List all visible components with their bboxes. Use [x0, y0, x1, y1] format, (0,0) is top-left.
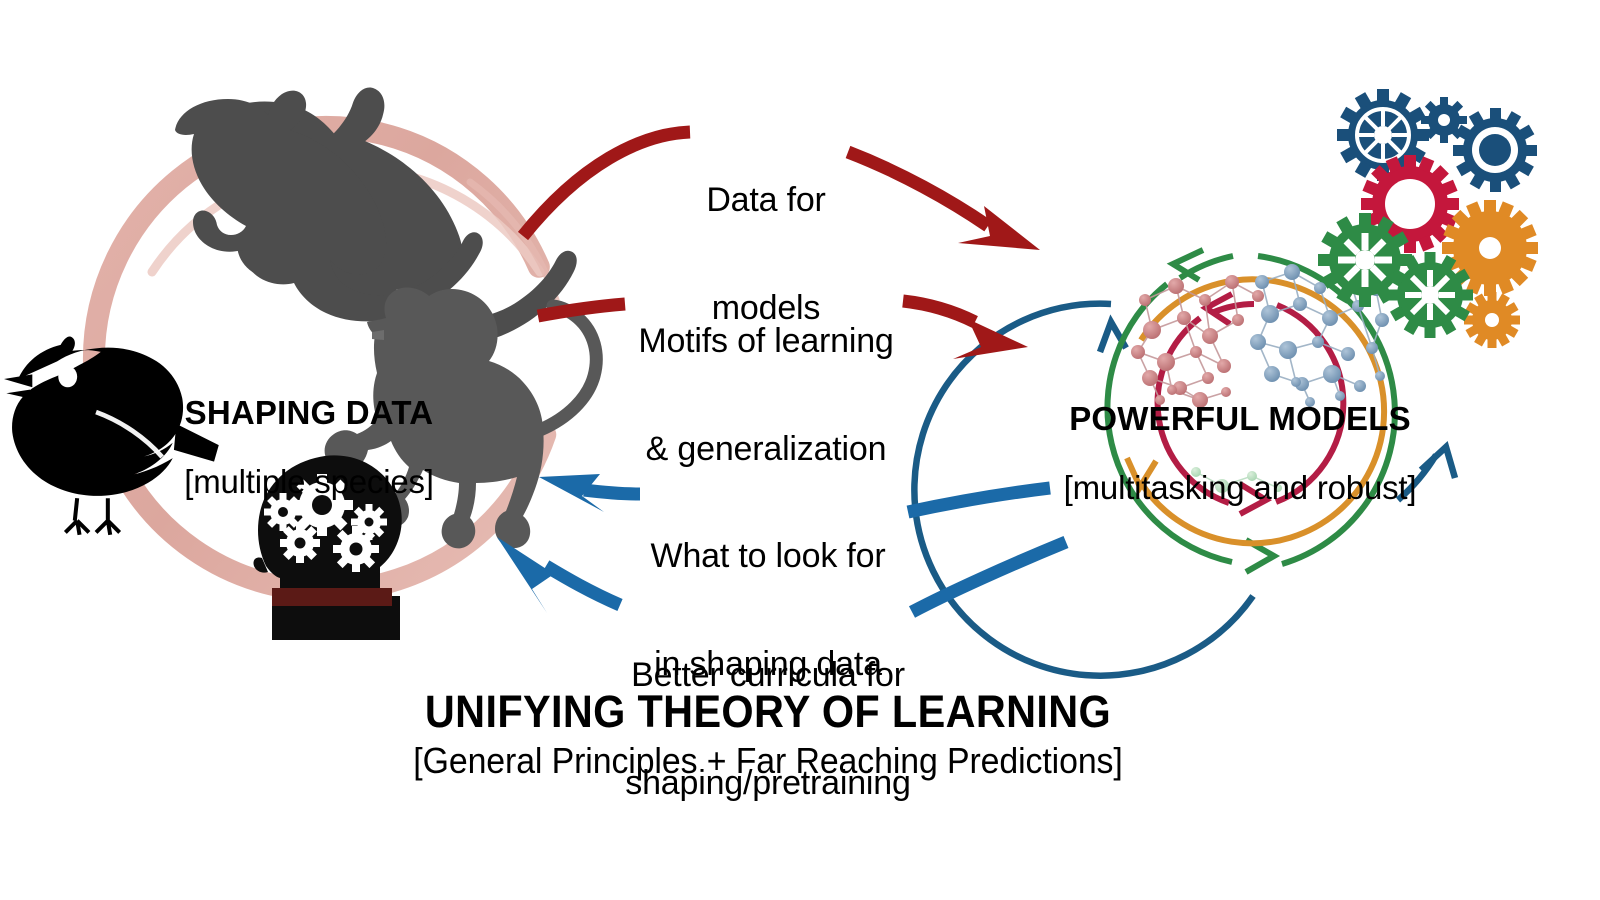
right-node-title: POWERFUL MODELS — [1064, 402, 1417, 437]
left-node-label: SHAPING DATA [multiple species] — [184, 362, 434, 534]
arrow-label-line: Motifs of learning — [638, 323, 893, 359]
arrow-label-line: What to look for — [651, 538, 886, 574]
left-node-subtitle: [multiple species] — [184, 465, 434, 500]
diagram-canvas: Data for models Motifs of learning & gen… — [0, 0, 1600, 900]
page-subtitle: [General Principles + Far Reaching Predi… — [413, 742, 1122, 780]
right-node-label: POWERFUL MODELS [multitasking and robust… — [1064, 368, 1417, 540]
page-title: UNIFYING THEORY OF LEARNING — [425, 688, 1111, 736]
left-node-title: SHAPING DATA — [184, 396, 434, 431]
arrow-label-line: & generalization — [638, 431, 893, 467]
arrow-label-line: Data for — [706, 182, 825, 218]
right-node-subtitle: [multitasking and robust] — [1064, 471, 1417, 506]
